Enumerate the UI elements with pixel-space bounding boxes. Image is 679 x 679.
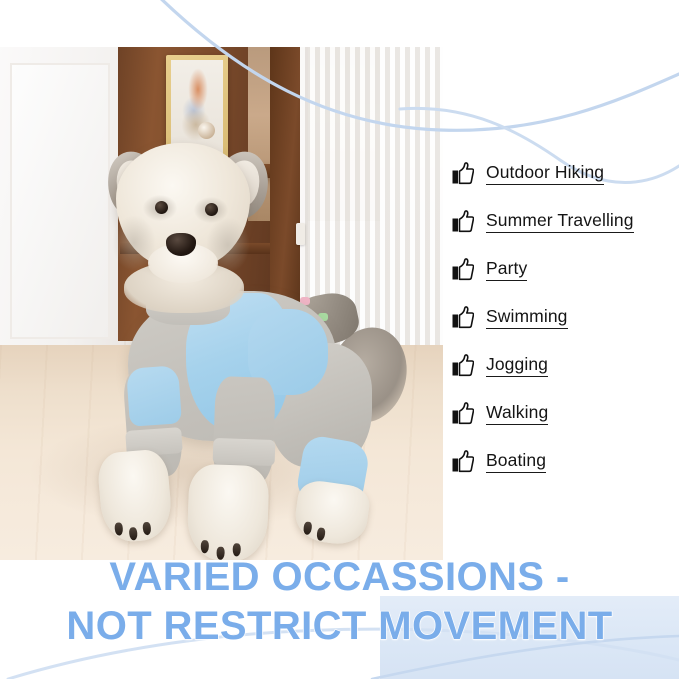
dog-front-leg-left-blue xyxy=(126,365,182,426)
feature-list: Outdoor Hiking Summer Travelling Party S… xyxy=(452,150,672,486)
dog-eye-left xyxy=(155,201,168,214)
feature-label: Walking xyxy=(486,403,548,424)
feature-item-summer-travelling[interactable]: Summer Travelling xyxy=(452,198,672,246)
thumbs-up-icon xyxy=(452,162,474,186)
feature-item-party[interactable]: Party xyxy=(452,246,672,294)
dog-paw-front-left xyxy=(96,448,174,544)
headline-line-1: VARIED OCCASSIONS - xyxy=(109,555,569,599)
product-photo xyxy=(0,47,443,560)
feature-label: Boating xyxy=(486,451,546,472)
thumbs-up-icon xyxy=(452,306,474,330)
feature-item-walking[interactable]: Walking xyxy=(452,390,672,438)
headline: VARIED OCCASSIONS - NOT RESTRICT MOVEMEN… xyxy=(0,553,679,651)
thumbs-up-icon xyxy=(452,210,474,234)
feature-item-jogging[interactable]: Jogging xyxy=(452,342,672,390)
photo-dog xyxy=(0,47,443,560)
feature-label: Party xyxy=(486,259,527,280)
thumbs-up-icon xyxy=(452,450,474,474)
dog-paw-rear xyxy=(292,478,372,547)
feature-item-boating[interactable]: Boating xyxy=(452,438,672,486)
feature-label: Jogging xyxy=(486,355,548,376)
thumbs-up-icon xyxy=(452,402,474,426)
dog-paw-front-right xyxy=(186,464,269,560)
feature-item-swimming[interactable]: Swimming xyxy=(452,294,672,342)
dog-suit-cuff-right xyxy=(213,438,276,466)
thumbs-up-icon xyxy=(452,354,474,378)
feature-label: Swimming xyxy=(486,307,568,328)
thumbs-up-icon xyxy=(452,258,474,282)
marketing-image-canvas: Outdoor Hiking Summer Travelling Party S… xyxy=(0,0,679,679)
feature-label: Summer Travelling xyxy=(486,211,634,232)
headline-line-2: NOT RESTRICT MOVEMENT xyxy=(0,602,679,651)
dog-eye-right xyxy=(205,203,218,216)
feature-item-outdoor-hiking[interactable]: Outdoor Hiking xyxy=(452,150,672,198)
feature-label: Outdoor Hiking xyxy=(486,163,604,184)
